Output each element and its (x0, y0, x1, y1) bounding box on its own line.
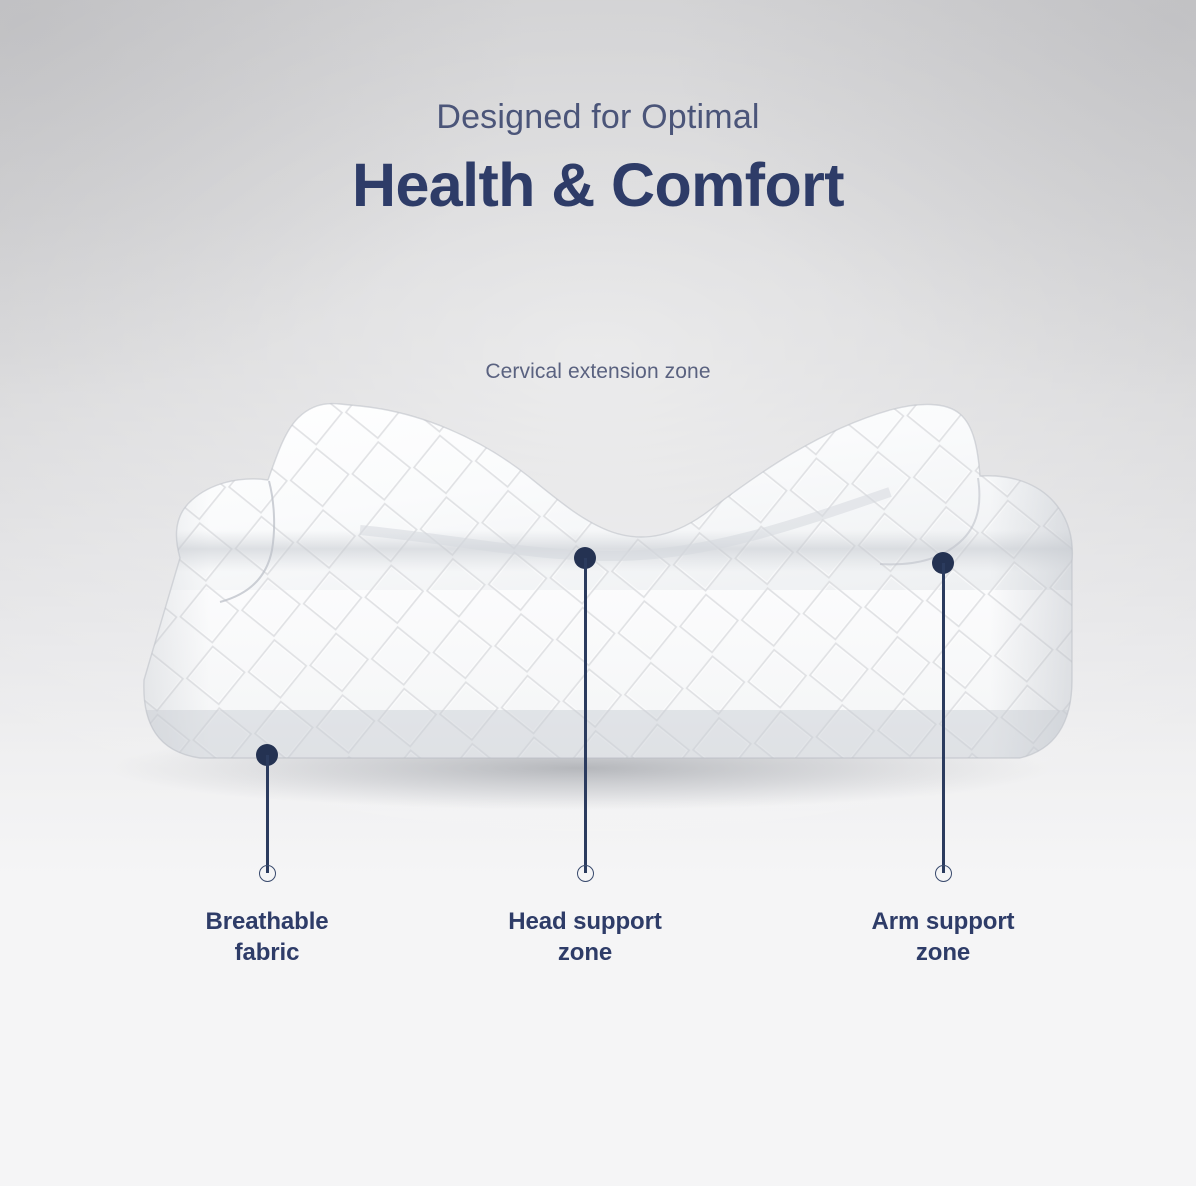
infographic-canvas: Designed for Optimal Health & Comfort Ce… (0, 0, 1196, 1186)
callout-label-line2: zone (445, 938, 725, 969)
callout-stem-line (942, 563, 945, 873)
page-title: Health & Comfort (0, 151, 1196, 219)
callout-ring-icon (577, 865, 594, 882)
callout-label-line1: Arm support (803, 907, 1083, 938)
callout-label-line2: fabric (127, 938, 407, 969)
callout-stem-line (584, 558, 587, 873)
callout-label-line1: Breathable (127, 907, 407, 938)
pillow-illustration (60, 380, 1136, 830)
callout-label: Breathable fabric (127, 907, 407, 968)
product-image (60, 380, 1136, 830)
callout-label-line2: zone (803, 938, 1083, 969)
callout-stem-line (266, 755, 269, 873)
header-block: Designed for Optimal Health & Comfort (0, 96, 1196, 219)
callout-label-line1: Head support (445, 907, 725, 938)
callout-ring-icon (259, 865, 276, 882)
callout-label: Head support zone (445, 907, 725, 968)
callout-ring-icon (935, 865, 952, 882)
callout-label: Arm support zone (803, 907, 1083, 968)
subtitle: Designed for Optimal (0, 96, 1196, 139)
